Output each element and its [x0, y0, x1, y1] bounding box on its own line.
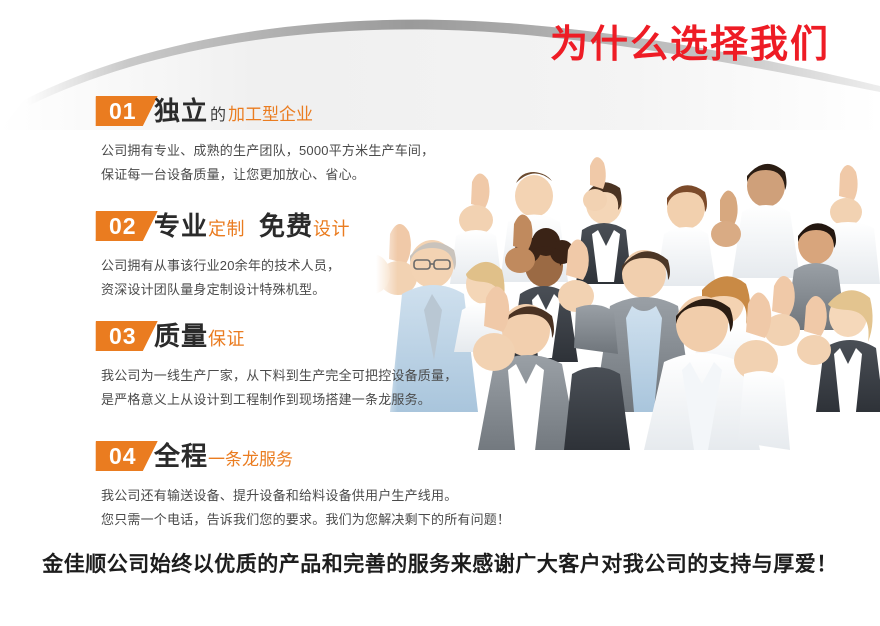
feature-heading: 02 专业定制免费设计 [92, 209, 492, 245]
feature-number: 03 [109, 321, 137, 351]
feature-item-04: 04 全程一条龙服务 我公司还有输送设备、提升设备和给料设备供用户生产线用。 您… [92, 439, 492, 532]
feature-number-badge: 03 [88, 321, 157, 351]
feature-heading: 03 质量保证 [92, 319, 492, 355]
feature-title-accent: 保证 [208, 329, 245, 349]
feature-description-line: 我公司还有输送设备、提升设备和给料设备供用户生产线用。 [101, 484, 492, 508]
promo-poster: 为什么选择我们 [0, 0, 880, 626]
feature-number: 04 [109, 441, 137, 471]
feature-title-link: 的 [208, 107, 228, 124]
feature-description-line: 是严格意义上从设计到工程制作到现场搭建一条龙服务。 [101, 388, 492, 412]
feature-number: 02 [109, 211, 137, 241]
feature-title-accent: 一条龙服务 [208, 450, 293, 469]
feature-number: 01 [109, 96, 137, 126]
feature-title: 独立的加工型企业 [154, 94, 313, 133]
feature-description: 公司拥有从事该行业20余年的技术人员， 资深设计团队量身定制设计特殊机型。 [101, 254, 492, 302]
feature-title-main: 专业 [154, 211, 208, 241]
footer-tagline: 金佳顺公司始终以优质的产品和完善的服务来感谢广大客户对我公司的支持与厚爱！ [0, 550, 880, 580]
feature-description-line: 资深设计团队量身定制设计特殊机型。 [101, 278, 492, 302]
feature-description-line: 保证每一台设备质量，让您更加放心、省心。 [101, 163, 492, 187]
feature-number-badge: 04 [88, 441, 157, 471]
feature-title: 质量保证 [154, 319, 245, 356]
feature-description: 公司拥有专业、成熟的生产团队，5000平方米生产车间， 保证每一台设备质量，让您… [101, 139, 492, 187]
feature-description: 我公司为一线生产厂家，从下料到生产完全可把控设备质量， 是严格意义上从设计到工程… [101, 364, 492, 412]
feature-number-badge: 02 [88, 211, 157, 241]
feature-title-accent: 加工型企业 [228, 105, 313, 124]
feature-description-line: 我公司为一线生产厂家，从下料到生产完全可把控设备质量， [101, 364, 492, 388]
feature-title-accent-2: 设计 [313, 219, 350, 239]
feature-description-line: 您只需一个电话，告诉我们您的要求。我们为您解决剩下的所有问题！ [101, 508, 492, 532]
feature-number-badge: 01 [88, 96, 157, 126]
feature-description: 我公司还有输送设备、提升设备和给料设备供用户生产线用。 您只需一个电话，告诉我们… [101, 484, 492, 532]
feature-title-accent: 定制 [208, 219, 245, 239]
feature-heading: 04 全程一条龙服务 [92, 439, 492, 475]
feature-item-02: 02 专业定制免费设计 公司拥有从事该行业20余年的技术人员， 资深设计团队量身… [92, 209, 492, 302]
feature-list: 01 独立的加工型企业 公司拥有专业、成熟的生产团队，5000平方米生产车间， … [0, 0, 880, 540]
feature-title-main: 全程 [154, 441, 208, 471]
feature-title: 专业定制免费设计 [154, 209, 350, 246]
feature-title-main: 独立 [154, 96, 208, 126]
feature-description-line: 公司拥有专业、成熟的生产团队，5000平方米生产车间， [101, 139, 492, 163]
feature-item-01: 01 独立的加工型企业 公司拥有专业、成熟的生产团队，5000平方米生产车间， … [92, 94, 492, 187]
feature-description-line: 公司拥有从事该行业20余年的技术人员， [101, 254, 492, 278]
feature-heading: 01 独立的加工型企业 [92, 94, 492, 130]
feature-item-03: 03 质量保证 我公司为一线生产厂家，从下料到生产完全可把控设备质量， 是严格意… [92, 319, 492, 412]
feature-title: 全程一条龙服务 [154, 439, 293, 477]
feature-title-main-2: 免费 [259, 211, 313, 241]
feature-title-main: 质量 [154, 321, 208, 351]
